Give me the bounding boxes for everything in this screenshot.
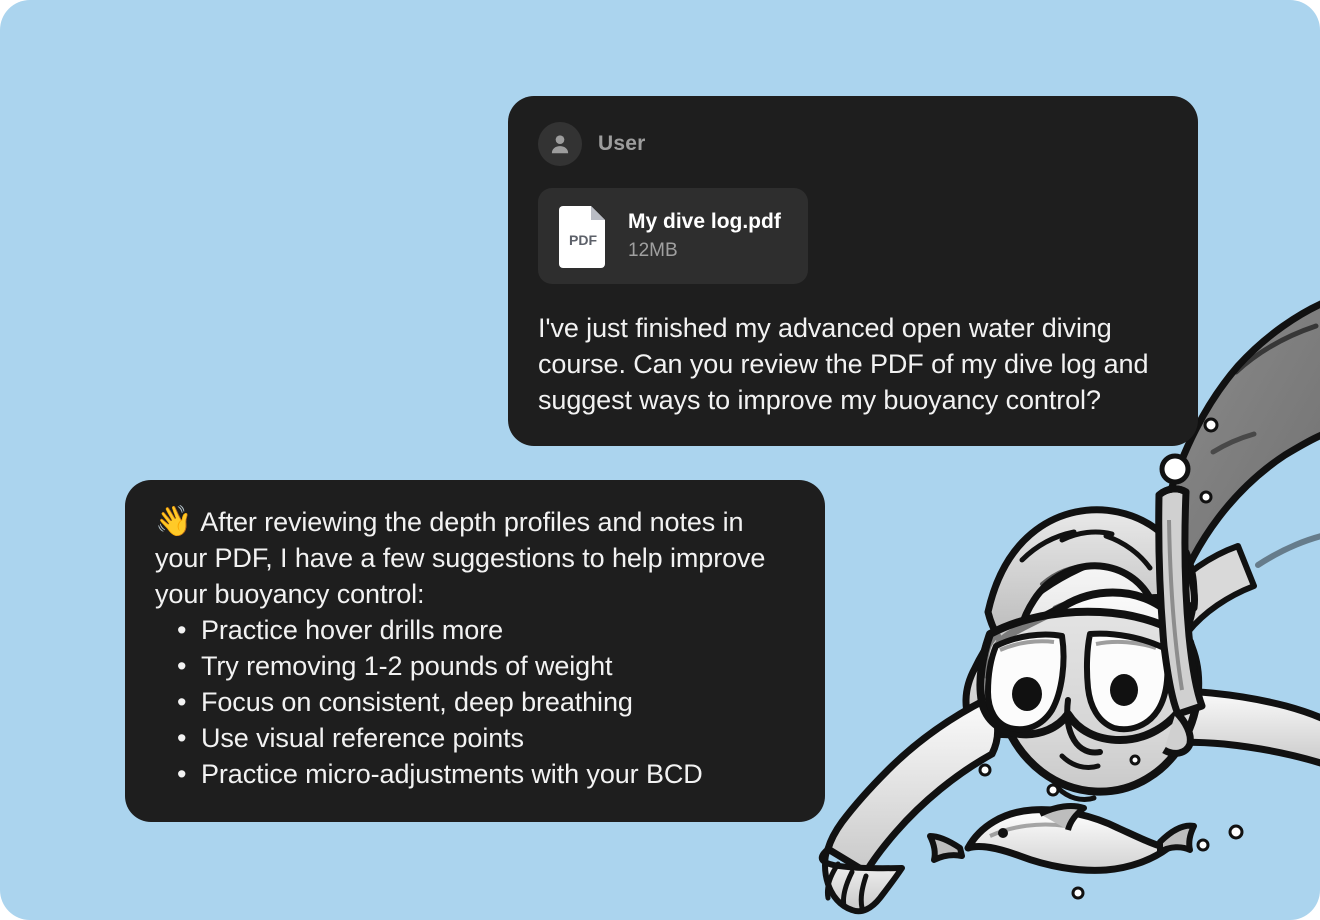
attachment-card[interactable]: PDF My dive log.pdf 12MB bbox=[538, 188, 808, 284]
attachment-filename: My dive log.pdf bbox=[628, 210, 781, 234]
assistant-message-bubble: 👋After reviewing the depth profiles and … bbox=[125, 480, 825, 822]
user-message-text: I've just finished my advanced open wate… bbox=[538, 310, 1168, 418]
list-item: Focus on consistent, deep breathing bbox=[177, 684, 795, 720]
user-message-header: User bbox=[538, 122, 1168, 166]
attachment-filesize: 12MB bbox=[628, 240, 781, 262]
assistant-message-intro: 👋After reviewing the depth profiles and … bbox=[155, 504, 795, 612]
list-item: Practice hover drills more bbox=[177, 612, 795, 648]
user-message-bubble: User PDF My dive log.pdf 12MB I've just … bbox=[508, 96, 1198, 446]
list-item: Practice micro-adjustments with your BCD bbox=[177, 756, 795, 792]
list-item: Use visual reference points bbox=[177, 720, 795, 756]
waving-hand-emoji: 👋 bbox=[155, 505, 192, 538]
buoyancy-tips-list: Practice hover drills more Try removing … bbox=[155, 612, 795, 792]
avatar bbox=[538, 122, 582, 166]
list-item: Try removing 1-2 pounds of weight bbox=[177, 648, 795, 684]
page-canvas: User PDF My dive log.pdf 12MB I've just … bbox=[0, 0, 1320, 920]
svg-text:PDF: PDF bbox=[569, 232, 597, 248]
user-avatar-icon bbox=[547, 131, 573, 157]
attachment-meta: My dive log.pdf 12MB bbox=[628, 210, 781, 262]
assistant-intro-text: After reviewing the depth profiles and n… bbox=[155, 507, 765, 609]
pdf-file-icon: PDF bbox=[558, 204, 610, 268]
user-name-label: User bbox=[598, 132, 646, 156]
chat-conversation: User PDF My dive log.pdf 12MB I've just … bbox=[0, 0, 1320, 920]
